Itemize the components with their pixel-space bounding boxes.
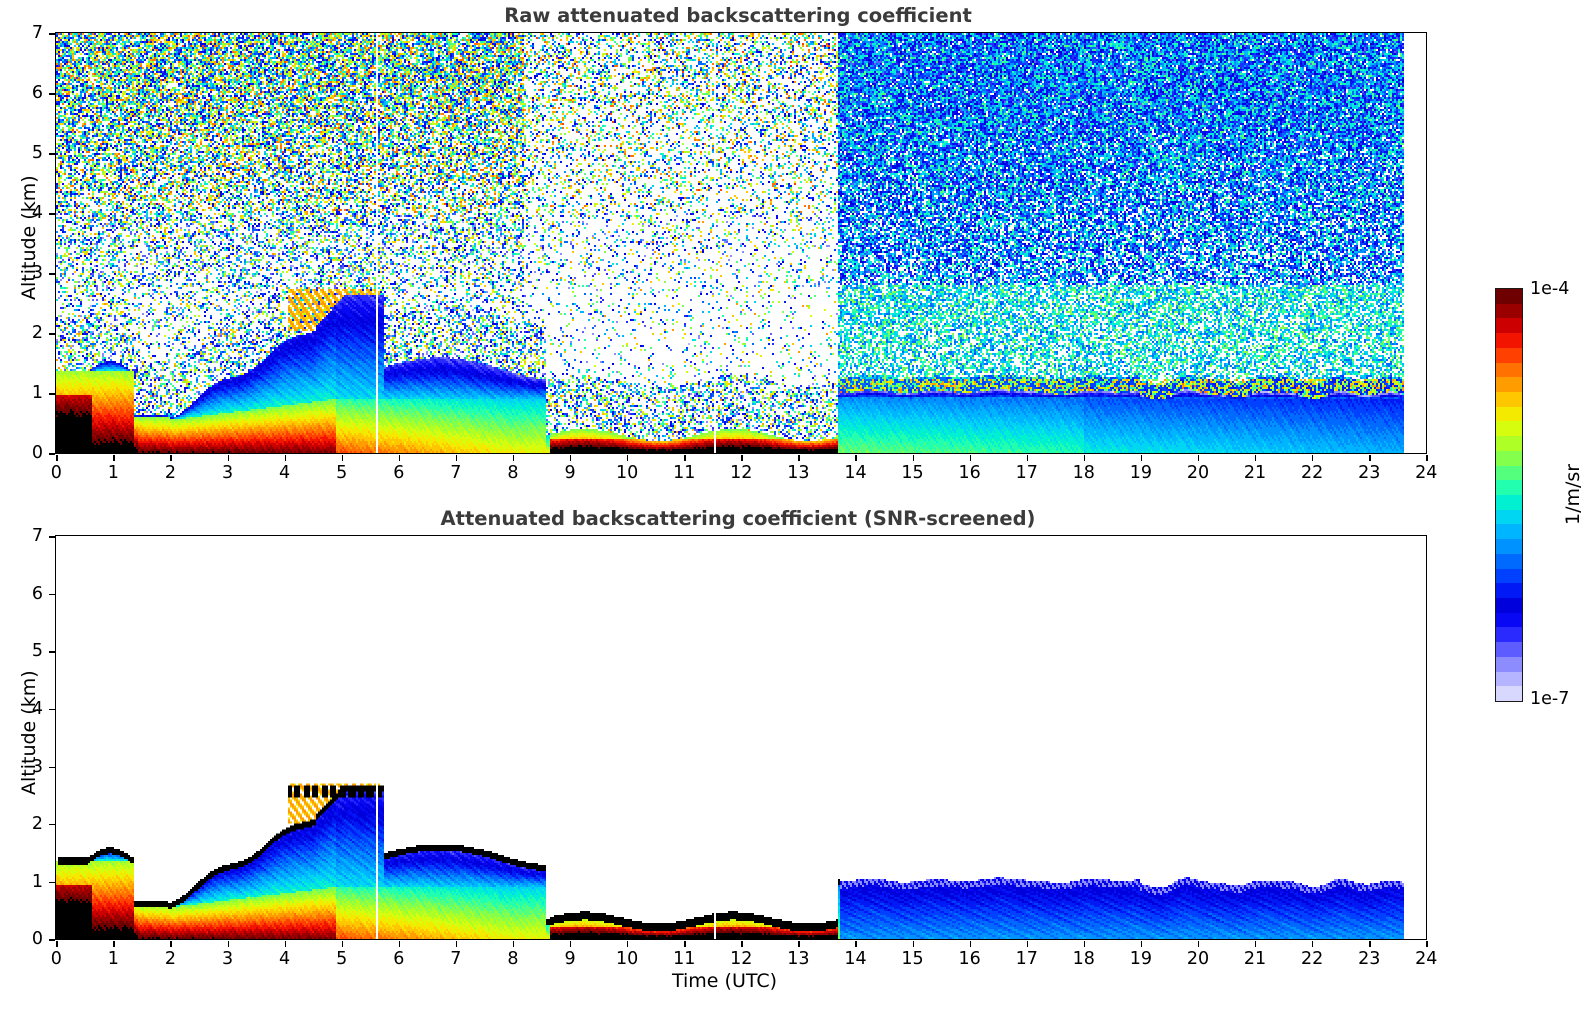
x-tick-label: 15 [901, 463, 923, 483]
x-tick-label: 10 [616, 463, 638, 483]
x-tick-label: 20 [1187, 463, 1209, 483]
colorbar-max-label: 1e-4 [1530, 279, 1569, 299]
y-tick [49, 333, 55, 334]
y-tick [49, 536, 55, 537]
x-tick-label: 5 [336, 463, 347, 483]
x-tick-label: 13 [787, 463, 809, 483]
x-tick-label: 10 [616, 949, 638, 969]
x-tick [1426, 455, 1427, 461]
x-tick [1369, 941, 1370, 947]
y-tick [49, 594, 55, 595]
x-tick-label: 24 [1415, 463, 1437, 483]
x-tick-label: 19 [1130, 949, 1152, 969]
x-tick-label: 8 [507, 463, 518, 483]
x-tick-label: 0 [51, 463, 62, 483]
y-tick-label: 2 [9, 323, 43, 343]
y-tick-label: 6 [9, 83, 43, 103]
x-tick-label: 11 [673, 949, 695, 969]
x-tick [170, 941, 171, 947]
x-tick [456, 941, 457, 947]
x-tick [1255, 941, 1256, 947]
y-tick [49, 824, 55, 825]
x-tick-label: 18 [1073, 949, 1095, 969]
panel-screened: Attenuated backscattering coefficient (S… [0, 503, 1450, 1003]
y-tick [49, 651, 55, 652]
x-tick [570, 455, 571, 461]
x-tick [855, 941, 856, 947]
x-tick [228, 941, 229, 947]
y-tick-label: 5 [9, 143, 43, 163]
y-tick [49, 767, 55, 768]
y-tick [49, 93, 55, 94]
plot-area-raw[interactable] [55, 32, 1427, 454]
colorbar-unit-label: 1/m/sr [1562, 464, 1584, 525]
x-tick [285, 941, 286, 947]
x-tick [1084, 455, 1085, 461]
x-tick [399, 941, 400, 947]
x-tick [1141, 941, 1142, 947]
x-tick [627, 455, 628, 461]
y-tick [49, 273, 55, 274]
x-tick [970, 455, 971, 461]
x-tick-label: 17 [1016, 949, 1038, 969]
heatmap-canvas-screened [56, 536, 1426, 939]
x-tick [170, 455, 171, 461]
y-axis-label-screened: Altitude (km) [18, 670, 40, 795]
x-tick [1312, 941, 1313, 947]
x-tick-label: 12 [730, 463, 752, 483]
colorbar-canvas [1496, 289, 1522, 701]
y-tick [49, 153, 55, 154]
colorbar-gradient[interactable] [1495, 288, 1523, 702]
x-tick [627, 941, 628, 947]
x-tick-label: 9 [564, 463, 575, 483]
x-tick [1426, 941, 1427, 947]
x-tick-label: 18 [1073, 463, 1095, 483]
x-tick [399, 455, 400, 461]
x-tick-label: 6 [393, 949, 404, 969]
x-tick [1141, 455, 1142, 461]
x-tick [1198, 941, 1199, 947]
x-tick [513, 941, 514, 947]
x-tick-label: 1 [108, 949, 119, 969]
x-tick-label: 21 [1244, 463, 1266, 483]
x-tick-label: 11 [673, 463, 695, 483]
x-tick [684, 941, 685, 947]
x-tick [1198, 455, 1199, 461]
x-tick [56, 455, 57, 461]
x-tick [741, 455, 742, 461]
plot-area-screened[interactable] [55, 535, 1427, 940]
x-tick-label: 5 [336, 949, 347, 969]
heatmap-canvas-raw [56, 33, 1426, 453]
y-tick-label: 7 [9, 526, 43, 546]
y-tick [49, 213, 55, 214]
y-tick [49, 33, 55, 34]
x-tick-label: 6 [393, 463, 404, 483]
x-tick [1027, 455, 1028, 461]
x-tick-label: 23 [1358, 463, 1380, 483]
x-tick-label: 4 [279, 463, 290, 483]
y-axis-label-raw: Altitude (km) [18, 175, 40, 300]
x-tick [113, 941, 114, 947]
x-tick-label: 14 [844, 949, 866, 969]
y-tick-label: 0 [9, 443, 43, 463]
y-tick [49, 882, 55, 883]
x-tick-label: 20 [1187, 949, 1209, 969]
x-tick [285, 455, 286, 461]
x-tick-label: 22 [1301, 463, 1323, 483]
x-tick [228, 455, 229, 461]
x-tick [1255, 455, 1256, 461]
y-tick-label: 2 [9, 814, 43, 834]
y-tick-label: 6 [9, 584, 43, 604]
colorbar-min-label: 1e-7 [1530, 689, 1569, 709]
x-tick-label: 0 [51, 949, 62, 969]
x-tick [1027, 941, 1028, 947]
y-tick-label: 5 [9, 641, 43, 661]
x-tick [970, 941, 971, 947]
lidar-backscatter-figure: Raw attenuated backscattering coefficien… [0, 0, 1595, 1020]
x-tick [113, 455, 114, 461]
x-tick-label: 16 [958, 949, 980, 969]
x-tick [1312, 455, 1313, 461]
x-tick [855, 455, 856, 461]
x-tick-label: 4 [279, 949, 290, 969]
x-tick [56, 941, 57, 947]
y-tick-label: 1 [9, 383, 43, 403]
panel-raw-title: Raw attenuated backscattering coefficien… [48, 4, 1428, 27]
x-tick-label: 15 [901, 949, 923, 969]
x-tick-label: 13 [787, 949, 809, 969]
y-tick-label: 0 [9, 929, 43, 949]
x-tick-label: 23 [1358, 949, 1380, 969]
y-tick [49, 393, 55, 394]
y-tick [49, 453, 55, 454]
x-tick-label: 22 [1301, 949, 1323, 969]
x-tick [342, 455, 343, 461]
x-tick-label: 3 [222, 949, 233, 969]
x-tick-label: 7 [450, 949, 461, 969]
panel-raw: Raw attenuated backscattering coefficien… [0, 0, 1450, 495]
x-tick-label: 7 [450, 463, 461, 483]
panel-screened-title: Attenuated backscattering coefficient (S… [48, 507, 1428, 530]
x-tick-label: 16 [958, 463, 980, 483]
x-tick [342, 941, 343, 947]
x-tick-label: 19 [1130, 463, 1152, 483]
y-tick-label: 1 [9, 872, 43, 892]
x-tick [798, 941, 799, 947]
x-tick [456, 455, 457, 461]
x-tick [684, 455, 685, 461]
x-tick [913, 941, 914, 947]
x-tick-label: 21 [1244, 949, 1266, 969]
x-tick-label: 8 [507, 949, 518, 969]
x-tick-label: 2 [165, 949, 176, 969]
x-tick-label: 9 [564, 949, 575, 969]
y-tick-label: 7 [9, 23, 43, 43]
x-tick-label: 14 [844, 463, 866, 483]
x-tick-label: 24 [1415, 949, 1437, 969]
x-tick-label: 17 [1016, 463, 1038, 483]
x-tick [1084, 941, 1085, 947]
y-tick [49, 939, 55, 940]
colorbar: 1e-4 1e-7 1/m/sr [1450, 0, 1595, 1020]
x-tick [513, 455, 514, 461]
x-tick [741, 941, 742, 947]
x-tick-label: 1 [108, 463, 119, 483]
x-tick [798, 455, 799, 461]
x-axis-label-time: Time (UTC) [672, 970, 777, 992]
y-tick [49, 709, 55, 710]
x-tick [1369, 455, 1370, 461]
x-tick-label: 2 [165, 463, 176, 483]
x-tick [913, 455, 914, 461]
x-tick [570, 941, 571, 947]
x-tick-label: 3 [222, 463, 233, 483]
x-tick-label: 12 [730, 949, 752, 969]
